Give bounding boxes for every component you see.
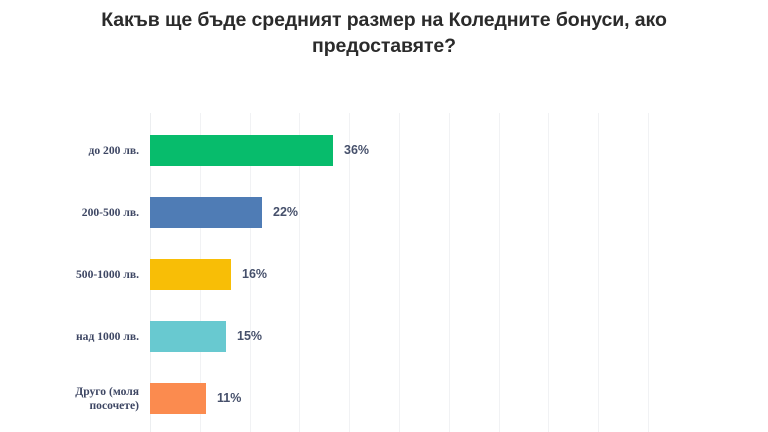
bar[interactable] — [150, 197, 262, 228]
gridline — [648, 113, 649, 432]
bar-row[interactable]: 36% — [150, 120, 648, 182]
bar[interactable] — [150, 135, 333, 166]
category-label-wrap: 500-1000 лв. — [0, 244, 150, 306]
chart-title: Какъв ще бъде средният размер на Коледни… — [40, 8, 728, 59]
bar-chart-figure: Какъв ще бъде средният размер на Коледни… — [0, 0, 768, 432]
category-label: до 200 лв. — [0, 144, 150, 158]
bar-row[interactable]: 11% — [150, 368, 648, 430]
category-label-wrap: 200-500 лв. — [0, 182, 150, 244]
bar[interactable] — [150, 383, 206, 414]
category-label: 500-1000 лв. — [0, 268, 150, 282]
bar-value-label: 16% — [242, 259, 267, 290]
bar-row[interactable]: 15% — [150, 306, 648, 368]
bar-value-label: 22% — [273, 197, 298, 228]
category-label-wrap: над 1000 лв. — [0, 306, 150, 368]
bar[interactable] — [150, 259, 231, 290]
category-label: над 1000 лв. — [0, 330, 150, 344]
category-label-wrap: Друго (моля посочете) — [0, 368, 150, 430]
category-label-wrap: до 200 лв. — [0, 120, 150, 182]
category-label: 200-500 лв. — [0, 206, 150, 220]
bar[interactable] — [150, 321, 226, 352]
plot-area: 36%22%16%15%11% — [150, 113, 648, 432]
bar-row[interactable]: 16% — [150, 244, 648, 306]
category-label: Друго (моля посочете) — [0, 385, 150, 413]
bar-value-label: 15% — [237, 321, 262, 352]
bar-value-label: 11% — [217, 383, 241, 414]
bar-row[interactable]: 22% — [150, 182, 648, 244]
category-axis-labels: до 200 лв.200-500 лв.500-1000 лв.над 100… — [0, 113, 150, 432]
bar-value-label: 36% — [344, 135, 369, 166]
